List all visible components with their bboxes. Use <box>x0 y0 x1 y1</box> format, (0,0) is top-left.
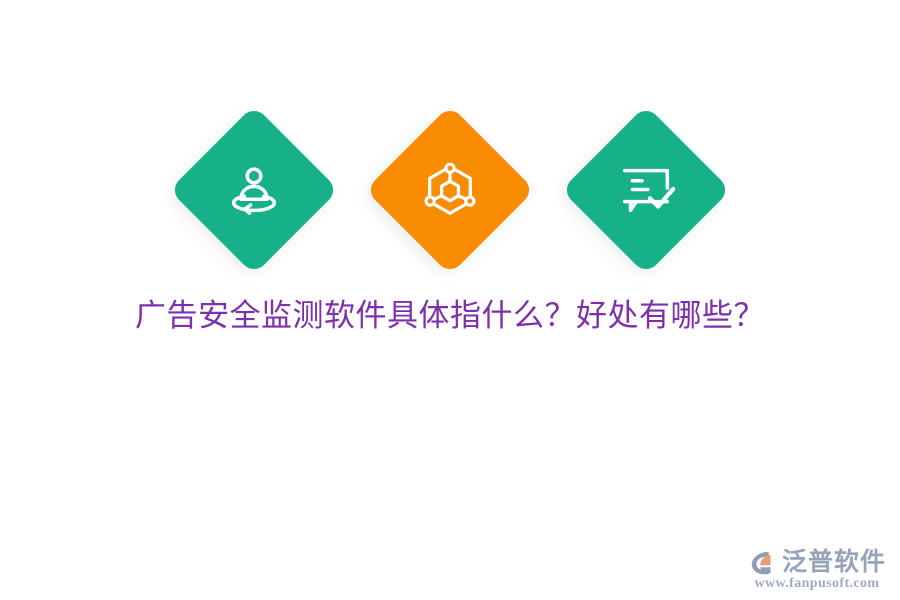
chat-bubble-check-icon <box>615 159 677 221</box>
hexagon-network-icon <box>419 159 481 221</box>
fanpu-logo-icon <box>748 548 778 578</box>
watermark-brand-name: 泛普软件 <box>782 548 886 578</box>
person-orbit-icon <box>223 159 285 221</box>
icon-tile-verified-message[interactable] <box>561 105 731 275</box>
icon-tile-network-hexagon[interactable] <box>365 105 535 275</box>
page-title: 广告安全监测软件具体指什么？好处有哪些？ <box>0 294 900 338</box>
watermark-brand-row: 泛普软件 <box>748 548 886 578</box>
watermark-url: www.fanpusoft.com <box>748 576 886 592</box>
poster-canvas: 广告安全监测软件具体指什么？好处有哪些？ 泛普软件 www.fanpusoft.… <box>0 0 900 600</box>
watermark-logo: 泛普软件 www.fanpusoft.com <box>748 548 886 592</box>
icon-tile-user-tracking[interactable] <box>169 105 339 275</box>
icon-diamond-row <box>0 105 900 275</box>
